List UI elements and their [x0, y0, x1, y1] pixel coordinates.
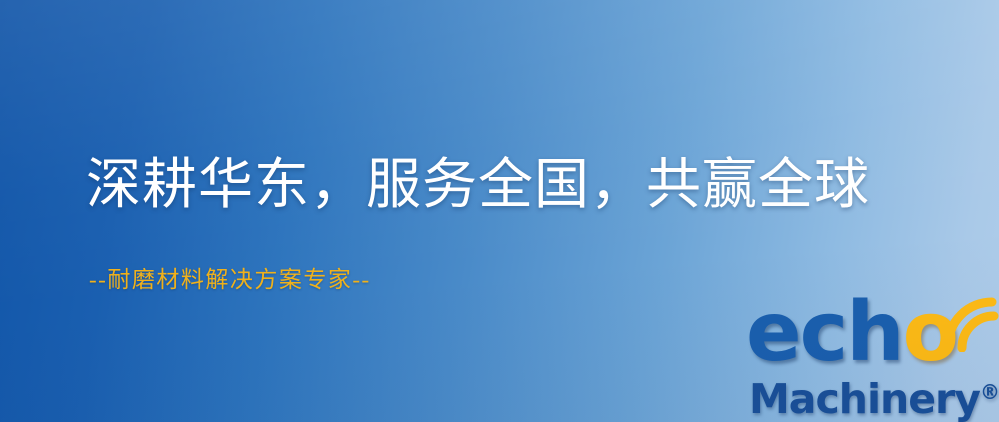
signal-waves-icon	[942, 292, 999, 352]
banner-subtitle: --耐磨材料解决方案专家--	[89, 266, 371, 294]
logo-machinery-text: Machinery	[749, 375, 980, 422]
logo-wordmark-echo: echo	[746, 292, 957, 374]
logo-echo-blue-text: ech	[746, 285, 903, 380]
logo-wordmark-machinery: Machinery®	[749, 370, 999, 421]
echo-machinery-logo: echo Machinery®	[746, 292, 999, 422]
registered-trademark-icon: ®	[980, 380, 999, 404]
promo-banner: 深耕华东，服务全国，共赢全球 --耐磨材料解决方案专家-- echo Machi…	[0, 0, 999, 422]
banner-headline: 深耕华东，服务全国，共赢全球	[86, 156, 870, 214]
